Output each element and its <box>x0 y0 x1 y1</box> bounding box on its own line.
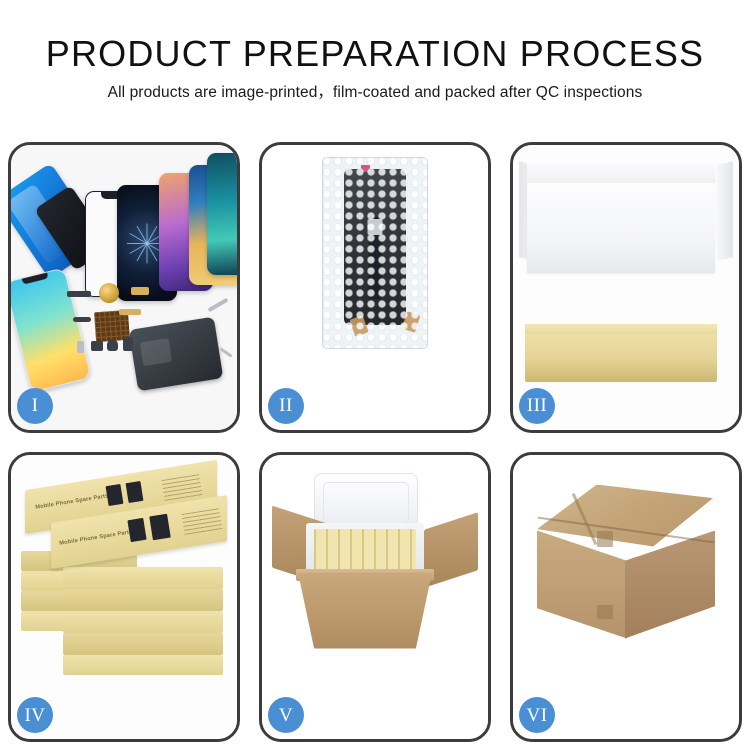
step-3-image: III <box>513 145 739 430</box>
step-panel-5: V <box>259 452 491 743</box>
part-tool-icon <box>207 298 228 312</box>
part-battery-icon <box>77 341 84 353</box>
step-badge-4: IV <box>17 697 53 733</box>
stacked-box <box>63 655 223 675</box>
phone-screen-teal-icon <box>207 153 237 275</box>
part-connector-icon <box>119 309 141 315</box>
connector-pad-icon <box>368 219 383 235</box>
step-panel-6: VI <box>510 452 742 743</box>
stacked-box <box>63 589 223 611</box>
step-4-image: Mobile Phone Spare Parts Mobile Phone Sp… <box>11 455 237 740</box>
box-art-screen-icon <box>126 480 144 502</box>
part-gold-bracket-icon <box>131 287 149 295</box>
part-strip-icon <box>67 291 91 297</box>
part-module-icon <box>123 337 133 351</box>
step-panel-4: Mobile Phone Spare Parts Mobile Phone Sp… <box>8 452 240 743</box>
page-title: PRODUCT PREPARATION PROCESS <box>0 0 750 74</box>
step-1-image: I <box>11 145 237 430</box>
carton-tape-tab-icon <box>597 531 613 547</box>
yellow-boxes-inside-icon <box>314 529 416 573</box>
box-art-screen-icon <box>149 513 171 540</box>
step-2-image: II <box>262 145 488 430</box>
step-5-image: V <box>262 455 488 740</box>
step-6-image: VI <box>513 455 739 740</box>
phone-back-housing-icon <box>129 317 224 392</box>
step-panel-3: III <box>510 142 742 433</box>
page-subtitle: All products are image-printed，film-coat… <box>0 74 750 103</box>
steps-grid: I II II <box>8 142 742 742</box>
carton-tape-tab-lower-icon <box>597 605 613 619</box>
box-lid-icon <box>527 163 715 273</box>
product-preparation-infographic: PRODUCT PREPARATION PROCESS All products… <box>0 0 750 750</box>
stacked-box <box>63 633 223 655</box>
part-flex-cable-icon <box>73 317 91 322</box>
step-panel-2: II <box>259 142 491 433</box>
box-art-screen-icon <box>106 483 124 505</box>
step-badge-1: I <box>17 388 53 424</box>
step-badge-3: III <box>519 388 555 424</box>
step-badge-2: II <box>268 388 304 424</box>
part-speaker-icon <box>107 339 118 351</box>
carton-body-icon <box>298 573 432 649</box>
carton-right-face-icon <box>625 531 715 639</box>
step-badge-6: VI <box>519 697 555 733</box>
box-lid-flap-right-icon <box>717 161 733 260</box>
stacked-box <box>63 611 223 633</box>
part-screw-icon <box>219 347 232 357</box>
header: PRODUCT PREPARATION PROCESS All products… <box>0 0 750 103</box>
step-badge-5: V <box>268 697 304 733</box>
carton-left-face-icon <box>537 531 627 639</box>
step-panel-1: I <box>8 142 240 433</box>
stacked-box <box>63 567 223 589</box>
copper-coil-icon <box>99 283 119 303</box>
box-tray-icon <box>525 332 717 382</box>
part-bracket-icon <box>91 341 103 351</box>
phone-device-front-icon <box>11 267 92 393</box>
box-art-screen-icon <box>127 517 146 541</box>
pink-label-icon <box>361 165 370 172</box>
